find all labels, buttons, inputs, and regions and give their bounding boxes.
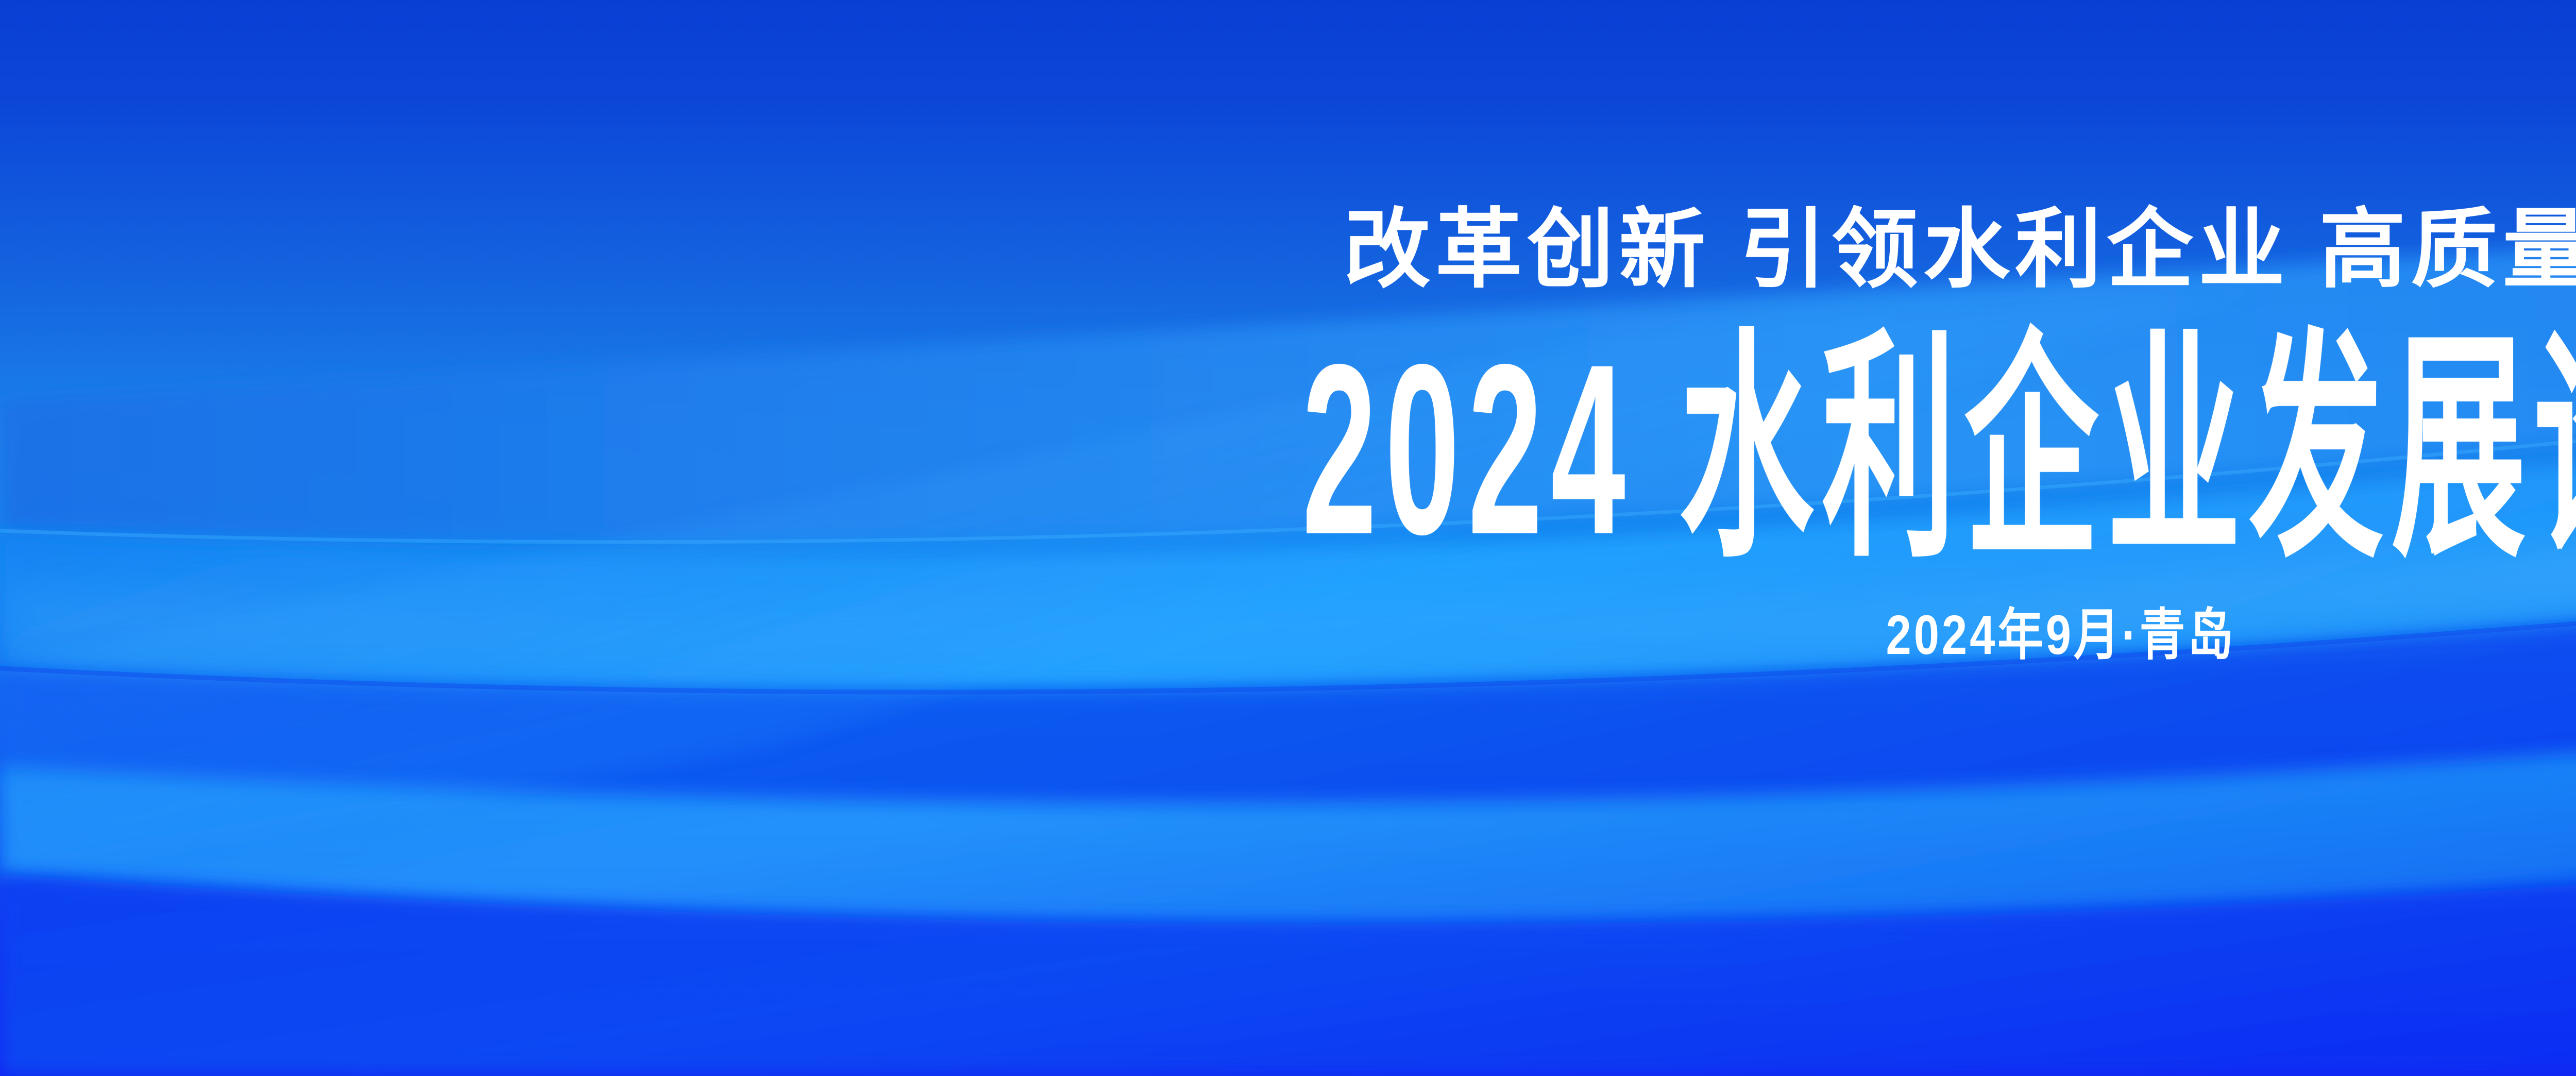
banner-main-title: 2024 水利企业发展论坛 — [1302, 329, 2576, 571]
banner-subtitle: 改革创新 引领水利企业 高质量发展 — [1344, 206, 2576, 293]
event-banner: 改革创新 引领水利企业 高质量发展 2024 水利企业发展论坛 2024年9月·… — [0, 0, 2576, 1076]
banner-date-location: 2024年9月·青岛 — [1886, 607, 2235, 663]
banner-content: 改革创新 引领水利企业 高质量发展 2024 水利企业发展论坛 2024年9月·… — [0, 0, 2576, 1076]
